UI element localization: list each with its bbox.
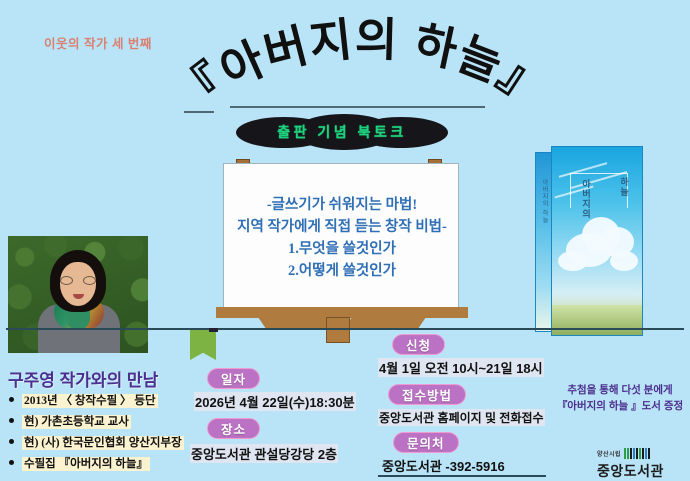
title-rule-left [184, 111, 214, 113]
title-rule-right [230, 106, 485, 108]
whiteboard-text: -글쓰기가 쉬워지는 마법! 지역 작가에게 직접 듣는 창작 비법- 1.무엇… [234, 194, 450, 282]
credit-text-4: 수필집 『아버지의 하늘』 [22, 457, 150, 471]
logo-bar [627, 448, 629, 459]
glasses-icon [60, 276, 96, 285]
credit-text-1: 2013년 〈 창작수필 〉 등단 [22, 394, 158, 408]
whiteboard: -글쓰기가 쉬워지는 마법! 지역 작가에게 직접 듣는 창작 비법- 1.무엇… [223, 163, 459, 309]
board-line-1: -글쓰기가 쉬워지는 마법! [234, 194, 450, 216]
easel: -글쓰기가 쉬워지는 마법! 지역 작가에게 직접 듣는 창작 비법- 1.무엇… [216, 155, 468, 335]
logo-bar [642, 448, 644, 459]
credit-text-3: 현) (사) 한국문인협회 양산지부장 [22, 436, 184, 450]
method-value: 중앙도서관 홈페이지 및 전화접수 [378, 409, 545, 426]
method-label: 접수방법 [388, 384, 466, 405]
logo-top-row: 양산시립 [597, 448, 650, 459]
book-spine-title: 아버지의 하늘 [540, 179, 549, 224]
board-line-4: 2.어떻게 쓸것인가 [234, 260, 450, 282]
contact-label: 문의처 [393, 432, 459, 453]
logo-name: 중앙도서관 [597, 461, 664, 481]
logo-subtitle: 양산시립 [597, 449, 621, 458]
board-line-2: 지역 작가에게 직접 듣는 창작 비법- [234, 216, 450, 238]
list-item: 2013년 〈 창작수필 〉 등단 [8, 392, 194, 408]
book-cover-image: 아버지의 하늘 아버지의 하늘 [535, 146, 645, 336]
logo-bar [633, 448, 635, 459]
library-logo: 양산시립 중앙도서관 [597, 448, 685, 478]
cloud-4 [558, 251, 588, 271]
section-divider [6, 328, 684, 330]
cloud-5 [610, 251, 638, 271]
note-line-2: 『아버지의 하늘 』도서 증정 [550, 398, 690, 414]
list-item: 수필집 『아버지의 하늘』 [8, 455, 194, 471]
date-value: 2026년 4월 22일(수)18:30분 [194, 392, 356, 411]
credit-text-2: 현) 가촌초등학교 교사 [22, 415, 131, 429]
logo-bar [645, 448, 647, 459]
logo-bar [624, 448, 626, 459]
author-photo [8, 236, 148, 353]
logo-bars-icon [624, 448, 650, 459]
easel-leg-center [326, 317, 350, 343]
place-label: 장소 [207, 418, 260, 439]
author-credits-list: 2013년 〈 창작수필 〉 등단 현) 가촌초등학교 교사 현) (사) 한국… [8, 392, 194, 476]
contact-value: 중앙도서관 -392-5916 [381, 456, 506, 475]
place-value: 중앙도서관 관설당강당 2층 [190, 444, 338, 463]
apply-label: 신청 [392, 334, 445, 355]
booktalk-label: 출판 기념 북토크 [236, 112, 448, 152]
list-item: 현) 가촌초등학교 교사 [8, 413, 194, 429]
apply-value: 4월 1일 오전 10시~21일 18시 [378, 358, 544, 377]
title-arc-svg: 『아버지의 하늘』 [178, 2, 558, 122]
book-cover-title-2: 하늘 [618, 177, 631, 197]
kicker-text: 이웃의 작가 세 번째 [44, 33, 152, 52]
logo-bar [636, 448, 638, 459]
giveaway-note: 추첨을 통해 다섯 분에게 『아버지의 하늘 』도서 증정 [550, 382, 690, 414]
book-cover-title-1: 아버지의 [580, 179, 593, 219]
bookmark-flag-icon [190, 330, 216, 360]
author-heading: 구주영 작가와의 만남 [8, 366, 158, 391]
poster-canvas: 이웃의 작가 세 번째 『아버지의 하늘』 출판 기념 북토크 -글쓰기가 쉬워… [0, 0, 690, 481]
contact-underline [378, 475, 546, 477]
board-line-3: 1.무엇을 쓸것인가 [234, 238, 450, 260]
poster-title: 『아버지의 하늘』 [178, 2, 558, 122]
note-line-1: 추첨을 통해 다섯 분에게 [550, 382, 690, 398]
easel-leg-right [345, 317, 426, 328]
list-item: 현) (사) 한국문인협회 양산지부장 [8, 434, 194, 450]
logo-bar [639, 448, 641, 459]
booktalk-badge: 출판 기념 북토크 [236, 112, 448, 152]
logo-bar [630, 448, 632, 459]
book-front-face: 아버지의 하늘 [551, 146, 643, 336]
bookmark-cap [209, 328, 218, 332]
logo-bar [648, 448, 650, 459]
grass-field [552, 305, 643, 335]
date-label: 일자 [207, 368, 260, 389]
